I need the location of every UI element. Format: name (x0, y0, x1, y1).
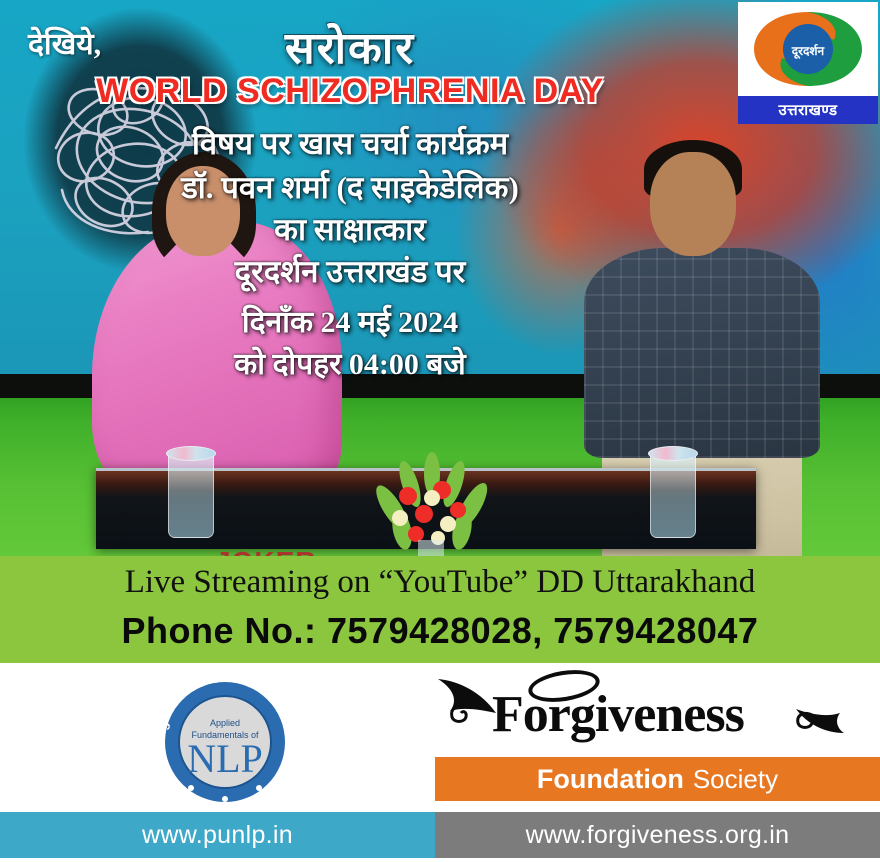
uttarakhand-label: उत्तराखण्ड (778, 100, 837, 120)
foundation-society-bar: Foundation Society (435, 757, 880, 801)
hindi-line-date: दिनाँक 24 मई 2024 (0, 300, 700, 341)
foundation-label: Foundation (537, 764, 684, 795)
forgiveness-wordmark: Forgiveness (492, 685, 744, 744)
dd-uttarakhand-logo: दूरदर्शन उत्तराखण्ड (738, 2, 878, 124)
water-glass-right (650, 452, 696, 538)
hindi-line-time: को दोपहर 04:00 बजे (0, 342, 700, 383)
doordarshan-center-text: दूरदर्शन (791, 44, 826, 59)
event-poster: JOKER (0, 0, 880, 862)
forgiveness-url-bar[interactable]: www.forgiveness.org.in (435, 812, 880, 858)
hindi-line-2: डॉ. पवन शर्मा (द साइकेडेलिक) (0, 166, 700, 208)
english-title: WORLD SCHIZOPHRENIA DAY (0, 72, 700, 111)
hindi-line-3: का साक्षात्कार (0, 208, 700, 250)
punlp-url-bar[interactable]: www.punlp.in (0, 812, 435, 858)
flower-bouquet (372, 452, 492, 556)
sponsor-logo-strip: Progressive Universe of NLP Applied Fund… (0, 663, 880, 812)
hindi-line-4: दूरदर्शन उत्तराखंड पर (0, 250, 700, 292)
live-streaming-text: Live Streaming on “YouTube” DD Uttarakha… (0, 564, 880, 601)
forgiveness-logo: Forgiveness (432, 669, 852, 759)
uttarakhand-band: उत्तराखण्ड (738, 96, 878, 124)
right-wing-icon (788, 699, 848, 739)
bottom-edge (0, 858, 880, 862)
program-title: सरोकार (0, 16, 700, 76)
nlp-logo: Progressive Universe of NLP Applied Fund… (143, 668, 308, 808)
society-label: Society (693, 764, 778, 795)
nlp-acronym: NLP (187, 736, 263, 781)
streaming-banner: Live Streaming on “YouTube” DD Uttarakha… (0, 556, 880, 663)
doordarshan-eye-icon: दूरदर्शन (748, 6, 868, 92)
phone-numbers-text: Phone No.: 7579428028, 7579428047 (0, 610, 880, 652)
hindi-line-1: विषय पर खास चर्चा कार्यक्रम (0, 122, 700, 164)
forgiveness-url-text: www.forgiveness.org.in (526, 821, 790, 850)
water-glass-left (168, 452, 214, 538)
nlp-inner-line-1: Applied (210, 718, 240, 728)
punlp-url-text: www.punlp.in (142, 821, 293, 850)
